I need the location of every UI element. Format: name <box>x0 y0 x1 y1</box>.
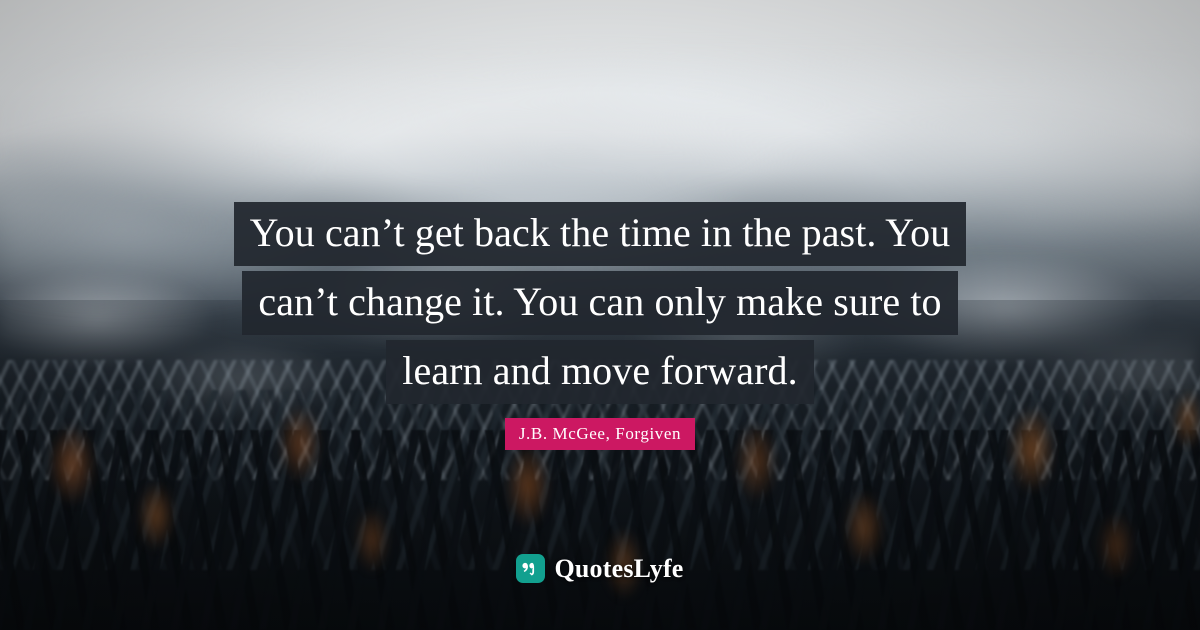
quote-text: You can’t get back the time in the past.… <box>0 202 1200 404</box>
brand-name: QuotesLyfe <box>554 556 683 582</box>
quote-card: You can’t get back the time in the past.… <box>0 0 1200 630</box>
attribution: J.B. McGee, Forgiven <box>0 418 1200 450</box>
quote-line-1: You can’t get back the time in the past.… <box>234 202 967 266</box>
quote-line-3: learn and move forward. <box>386 340 813 404</box>
quote-line-2: can’t change it. You can only make sure … <box>242 271 957 335</box>
card-content: You can’t get back the time in the past.… <box>0 0 1200 630</box>
attribution-badge: J.B. McGee, Forgiven <box>505 418 695 450</box>
quote-mark-icon <box>516 554 545 583</box>
brand-logo[interactable]: QuotesLyfe <box>0 554 1200 583</box>
